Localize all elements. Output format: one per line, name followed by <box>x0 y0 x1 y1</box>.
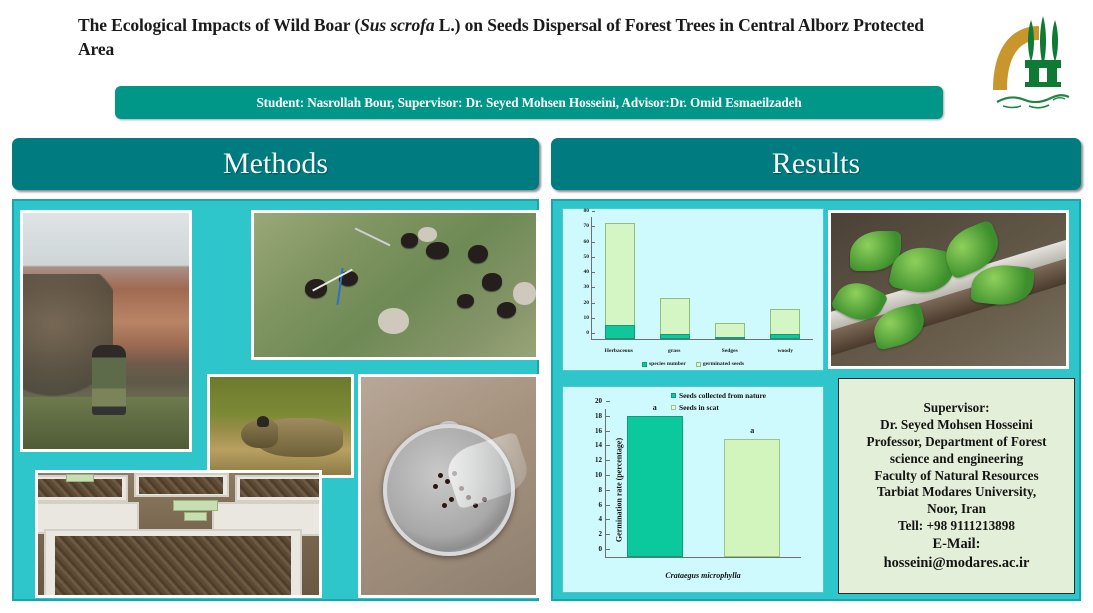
chart2-ytick: 20 <box>595 397 606 405</box>
supervisor-line: Professor, Department of Forest <box>867 434 1047 451</box>
chart2-ytick: 18 <box>595 412 606 420</box>
chart1-xaxis-labels: Herbaceous grass Sedges woody <box>591 348 813 354</box>
chart-germination-rate: Germination rate (percentage) Seeds coll… <box>562 386 824 593</box>
supervisor-email: hosseini@modares.ac.ir <box>884 554 1030 572</box>
supervisor-line: E-Mail: <box>933 535 981 553</box>
chart2-ytick: 4 <box>599 515 607 523</box>
chart1-xtick: Herbaceous <box>593 348 645 354</box>
chart1-ytick: 70 <box>584 223 593 229</box>
bar-woody <box>770 217 800 339</box>
bar-grass <box>660 217 690 339</box>
chart2-ytick: 2 <box>599 530 607 538</box>
legend-swatch-icon <box>696 362 701 367</box>
logo-graphic <box>973 2 1085 120</box>
photo-germination-trays <box>35 470 322 598</box>
bar-seeds-from-nature: a <box>627 416 683 557</box>
chart2-ytick: 12 <box>595 456 606 464</box>
legend-item-species-number: species number <box>642 361 686 367</box>
supervisor-line: Faculty of Natural Resources <box>874 468 1038 485</box>
section-header-results-label: Results <box>772 147 860 181</box>
chart2-bars: a a <box>606 409 801 557</box>
chart2-ytick: 8 <box>599 486 607 494</box>
chart1-xtick: grass <box>648 348 700 354</box>
chart2-ytick: 0 <box>599 545 607 553</box>
chart2-annotation: a <box>750 426 754 435</box>
chart2-ytick: 14 <box>595 441 606 449</box>
legend-item-seeds-from-nature: Seeds collected from nature <box>671 391 766 400</box>
chart1-legend: species number germinated seeds <box>563 361 823 367</box>
chart2-xaxis-label: Crataegus microphylla <box>605 571 801 580</box>
supervisor-line: Supervisor: <box>924 400 990 417</box>
authors-banner: Student: Nasrollah Bour, Supervisor: Dr.… <box>115 86 943 119</box>
section-header-methods-label: Methods <box>223 147 328 181</box>
tarbiat-modares-university-logo <box>973 2 1085 120</box>
photo-study-site-researcher <box>20 210 192 452</box>
chart2-ytick: 10 <box>595 471 606 479</box>
section-header-results: Results <box>551 138 1081 190</box>
bar-herbaceous <box>605 217 635 339</box>
chart2-annotation: a <box>653 403 657 412</box>
poster-canvas: The Ecological Impacts of Wild Boar (Sus… <box>0 0 1093 613</box>
photo-wild-boar <box>207 374 354 478</box>
photo-seed-washing-sieve <box>358 374 539 598</box>
page-title: The Ecological Impacts of Wild Boar (Sus… <box>78 14 958 61</box>
chart1-ytick: 30 <box>584 284 593 290</box>
section-header-methods: Methods <box>12 138 539 190</box>
chart1-ytick: 20 <box>584 300 593 306</box>
legend-item-germinated-seeds: germinated seeds <box>696 361 744 367</box>
bar-sedges <box>715 217 745 339</box>
chart1-plot-area: 80 70 60 50 40 30 20 10 0 <box>591 217 813 340</box>
chart1-ytick: 80 <box>584 208 593 214</box>
photo-wild-boar-scat-in-field <box>251 210 539 360</box>
chart1-bars <box>592 217 813 339</box>
chart1-ytick: 60 <box>584 239 593 245</box>
photo-seedling-in-tray <box>828 210 1069 369</box>
chart2-plot-area: 20 18 16 14 12 10 8 6 4 2 0 a a <box>605 409 801 558</box>
chart1-ytick: 10 <box>584 315 593 321</box>
supervisor-line: Dr. Seyed Mohsen Hosseini <box>880 417 1033 434</box>
supervisor-line: Noor, Iran <box>927 501 986 518</box>
chart2-ytick: 16 <box>595 427 606 435</box>
title-species-italic: Sus scrofa <box>360 15 434 35</box>
chart1-ytick: 50 <box>584 254 593 260</box>
chart2-ytick: 6 <box>599 501 607 509</box>
chart1-xtick: Sedges <box>704 348 756 354</box>
chart1-ytick: 40 <box>584 269 593 275</box>
supervisor-line: Tarbiat Modares University, <box>877 484 1036 501</box>
supervisor-line: Tell: +98 9111213898 <box>898 518 1015 535</box>
methods-panel <box>12 199 539 601</box>
title-text-part1: The Ecological Impacts of Wild Boar ( <box>78 15 360 35</box>
supervisor-contact-box: Supervisor: Dr. Seyed Mohsen Hosseini Pr… <box>838 378 1075 594</box>
supervisor-line: science and engineering <box>890 451 1023 468</box>
chart-species-and-germinated-seeds: 80 70 60 50 40 30 20 10 0 <box>562 208 824 371</box>
legend-label: Seeds collected from nature <box>679 391 766 400</box>
legend-label: species number <box>649 361 686 367</box>
legend-swatch-icon <box>642 362 647 367</box>
authors-text: Student: Nasrollah Bour, Supervisor: Dr.… <box>256 95 801 111</box>
chart1-xtick: woody <box>759 348 811 354</box>
legend-label: germinated seeds <box>703 361 744 367</box>
bar-seeds-in-scat: a <box>724 439 780 557</box>
legend-swatch-icon <box>671 393 676 398</box>
